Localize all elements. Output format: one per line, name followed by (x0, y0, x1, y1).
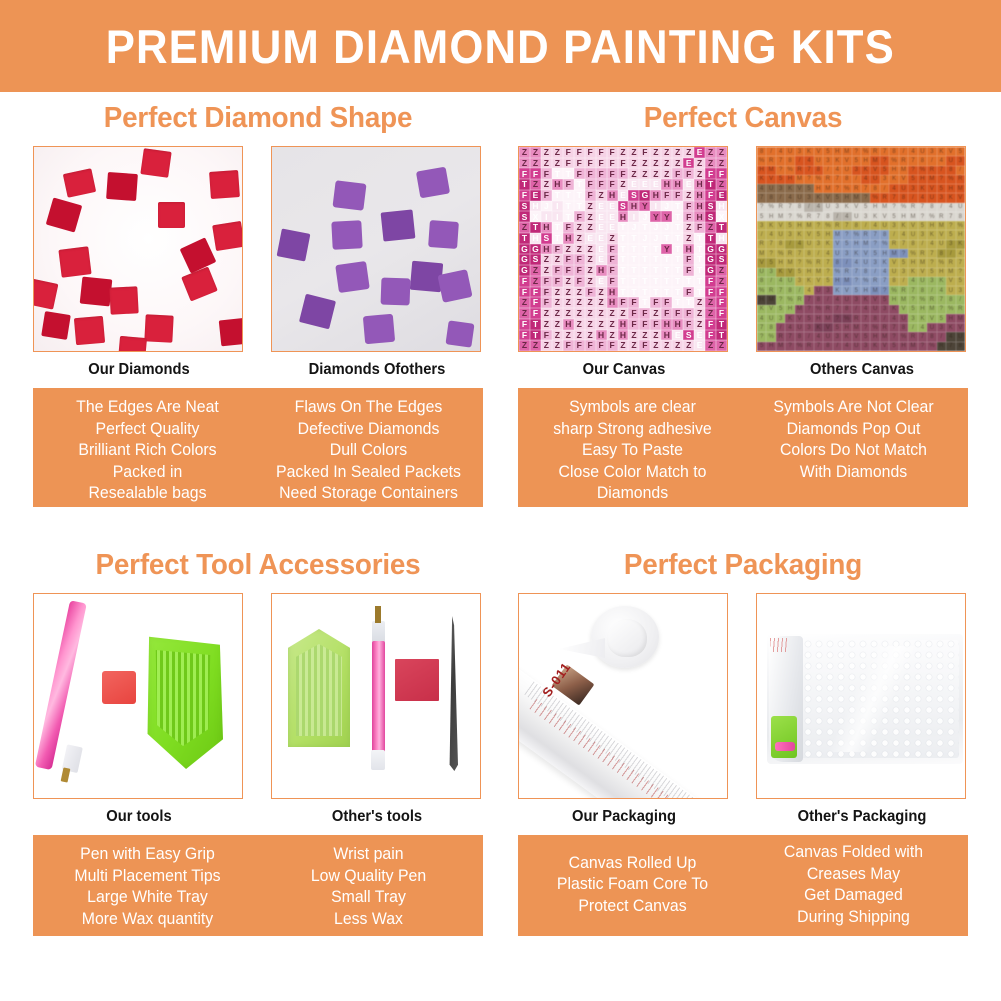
diamond-drill (158, 202, 185, 228)
canvas-symbol-cell: Z (541, 147, 552, 158)
canvas-symbol-cell: ? (956, 268, 965, 277)
tweezers (444, 616, 458, 771)
canvas-symbol-cell: T (563, 190, 574, 201)
canvas-symbol-cell: U (842, 295, 851, 304)
canvas-symbol-cell: F (585, 340, 596, 351)
canvas-symbol-cell: Z (618, 179, 629, 190)
canvas-symbol-cell: 8 (795, 203, 804, 212)
canvas-symbol-cell: Z (519, 308, 530, 319)
canvas-symbol-cell: 3 (776, 184, 785, 193)
canvas-symbol-cell: ? (823, 268, 832, 277)
canvas-symbol-cell: F (519, 319, 530, 330)
canvas-symbol-cell: H (880, 249, 889, 258)
canvas-symbol-cell: Z (683, 340, 694, 351)
canvas-symbol-cell: R (956, 305, 965, 314)
canvas-symbol-cell: V (918, 268, 927, 277)
canvas-symbol-cell: Z (585, 211, 596, 222)
canvas-symbol-cell: 7 (785, 203, 794, 212)
canvas-symbol-cell: 8 (766, 193, 775, 202)
canvas-symbol-cell: X (716, 211, 727, 222)
our-diamonds-photo (33, 146, 243, 352)
canvas-symbol-cell: ? (766, 249, 775, 258)
canvas-symbol-cell: T (650, 244, 661, 255)
canvas-symbol-cell: T (650, 254, 661, 265)
canvas-symbol-cell: F (541, 168, 552, 179)
canvas-symbol-cell: U (861, 258, 870, 267)
canvas-symbol-cell: 7 (870, 230, 879, 239)
canvas-symbol-cell: S (716, 254, 727, 265)
canvas-symbol-cell: 5 (823, 147, 832, 156)
canvas-symbol-cell: H (672, 179, 683, 190)
canvas-symbol-cell: H (661, 319, 672, 330)
canvas-symbol-cell: V (795, 184, 804, 193)
canvas-symbol-cell: T (618, 276, 629, 287)
our-packaging-block: S-011 Our Packaging (518, 593, 730, 826)
canvas-symbol-cell: T (672, 265, 683, 276)
canvas-symbol-cell: F (607, 276, 618, 287)
canvas-symbol-cell: R (937, 342, 946, 351)
our-tools-benefits: Pen with Easy Grip Multi Placement Tips … (41, 844, 253, 926)
canvas-symbol-cell: Y (639, 201, 650, 212)
canvas-symbol-cell: H (607, 190, 618, 201)
canvas-symbol-cell: / (956, 166, 965, 175)
canvas-symbol-cell: E (618, 190, 629, 201)
our-canvas-benefits: Symbols are clear sharp Strong adhesive … (526, 397, 738, 497)
canvas-symbol-cell: T (618, 287, 629, 298)
canvas-symbol-cell: / (833, 342, 842, 351)
canvas-symbol-cell: R (889, 240, 898, 249)
canvas-symbol-cell: Z (628, 330, 639, 341)
canvas-symbol-cell: H (918, 175, 927, 184)
canvas-symbol-cell: F (683, 319, 694, 330)
canvas-symbol-cell: 4 (804, 286, 813, 295)
canvas-symbol-cell: H (650, 190, 661, 201)
others-tools-photo (271, 593, 481, 799)
canvas-symbol-cell: / (776, 193, 785, 202)
others-diamonds-photo (271, 146, 481, 352)
canvas-symbol-cell: Z (585, 201, 596, 212)
canvas-symbol-cell: 7 (852, 268, 861, 277)
canvas-symbol-cell: Z (563, 308, 574, 319)
canvas-symbol-cell: T (618, 254, 629, 265)
canvas-symbol-cell: / (946, 249, 955, 258)
canvas-symbol-cell: E (585, 233, 596, 244)
canvas-symbol-cell: H (842, 193, 851, 202)
benefit-line: Pen with Easy Grip (41, 844, 253, 866)
canvas-symbol-cell: U (870, 305, 879, 314)
benefit-line: Protect Canvas (526, 896, 738, 918)
canvas-symbol-cell: I (650, 201, 661, 212)
infographic-page: PREMIUM DIAMOND PAINTING KITS Perfect Di… (0, 0, 1001, 1001)
canvas-symbol-cell: ? (804, 305, 813, 314)
canvas-symbol-cell: F (574, 158, 585, 169)
canvas-symbol-cell: 4 (852, 258, 861, 267)
canvas-symbol-cell: M (842, 147, 851, 156)
canvas-symbol-cell: H (607, 287, 618, 298)
canvas-symbol-cell: F (716, 297, 727, 308)
canvas-symbol-cell: F (705, 276, 716, 287)
canvas-symbol-cell: / (795, 286, 804, 295)
canvas-symbol-cell: T (672, 297, 683, 308)
canvas-symbol-cell: 4 (785, 193, 794, 202)
canvas-symbol-cell: T (672, 201, 683, 212)
others-packaging-block: Other's Packaging (756, 593, 968, 826)
canvas-symbol-cell: 8 (927, 332, 936, 341)
canvas-symbol-cell: M (956, 184, 965, 193)
canvas-symbol-cell: Z (661, 340, 672, 351)
canvas-symbol-cell: Z (716, 265, 727, 276)
tray-grooves (296, 644, 342, 736)
canvas-symbol-cell: F (563, 158, 574, 169)
benefit-line: Diamonds (526, 483, 738, 505)
canvas-symbol-grid: ZZZZFFFFFZZFZZZZEZZZZZZFFFFFFZZZZZEZZZFF… (519, 147, 727, 351)
canvas-symbol-cell: % (946, 305, 955, 314)
page-title: PREMIUM DIAMOND PAINTING KITS (106, 19, 895, 74)
canvas-symbol-cell: 4 (946, 203, 955, 212)
canvas-symbol-cell: % (785, 166, 794, 175)
canvas-symbol-cell: 7 (785, 332, 794, 341)
photo-caption: Our Canvas (523, 361, 724, 379)
drawback-line: Get Damaged (747, 885, 959, 907)
canvas-symbol-cell: K (946, 323, 955, 332)
canvas-symbol-cell: % (937, 258, 946, 267)
canvas-symbol-cell: 3 (927, 277, 936, 286)
canvas-symbol-cell: F (683, 201, 694, 212)
canvas-symbol-cell: E (716, 190, 727, 201)
canvas-symbol-cell: F (628, 308, 639, 319)
canvas-symbol-cell: Z (683, 233, 694, 244)
tools-comparison-box: Pen with Easy Grip Multi Placement Tips … (33, 835, 483, 936)
canvas-symbol-cell: ? (833, 184, 842, 193)
benefit-line: More Wax quantity (41, 909, 253, 931)
canvas-symbol-cell: Z (585, 276, 596, 287)
others-diamonds-drawbacks: Flaws On The Edges Defective Diamonds Du… (262, 397, 474, 497)
canvas-symbol-cell: M (908, 342, 917, 351)
canvas-symbol-cell: F (672, 190, 683, 201)
others-canvas-drawbacks: Symbols Are Not Clear Diamonds Pop Out C… (747, 397, 959, 497)
canvas-symbol-cell: % (795, 342, 804, 351)
bag-highlight (817, 646, 937, 752)
canvas-symbol-cell: T (694, 254, 705, 265)
canvas-symbol-cell: R (918, 249, 927, 258)
canvas-symbol-cell: R (880, 323, 889, 332)
canvas-symbol-cell: E (596, 201, 607, 212)
canvas-symbol-cell: Z (694, 158, 705, 169)
canvas-symbol-cell: 3 (870, 258, 879, 267)
canvas-symbol-cell: H (541, 222, 552, 233)
drawback-line: Creases May (747, 864, 959, 886)
canvas-symbol-cell: R (842, 268, 851, 277)
canvas-symbol-cell: F (519, 276, 530, 287)
canvas-symbol-cell: R (823, 175, 832, 184)
canvas-symbol-cell: S (705, 211, 716, 222)
canvas-symbol-cell: 5 (889, 342, 898, 351)
canvas-symbol-cell: R (823, 305, 832, 314)
canvas-symbol-cell: F (683, 168, 694, 179)
canvas-symbol-cell: 7 (776, 156, 785, 165)
canvas-symbol-cell: ? (861, 193, 870, 202)
canvas-symbol-cell: Z (530, 158, 541, 169)
canvas-symbol-cell: 3 (785, 230, 794, 239)
canvas-symbol-cell: % (908, 249, 917, 258)
canvas-symbol-cell: 7 (804, 166, 813, 175)
canvas-symbol-cell: R (766, 286, 775, 295)
canvas-symbol-cell: F (672, 168, 683, 179)
canvas-symbol-cell: V (842, 286, 851, 295)
canvas-symbol-cell: V (823, 193, 832, 202)
canvas-symbol-cell: K (776, 268, 785, 277)
canvas-symbol-cell: E (639, 179, 650, 190)
canvas-symbol-cell: M (804, 221, 813, 230)
canvas-symbol-cell: T (694, 287, 705, 298)
canvas-symbol-cell: E (596, 211, 607, 222)
canvas-symbol-cell: 3 (823, 156, 832, 165)
canvas-symbol-cell: T (552, 222, 563, 233)
canvas-symbol-cell: T (672, 233, 683, 244)
canvas-symbol-cell: 8 (908, 240, 917, 249)
our-tools-photo (33, 593, 243, 799)
canvas-symbol-cell: R (908, 332, 917, 341)
canvas-symbol-cell: R (880, 193, 889, 202)
canvas-symbol-cell: U (823, 203, 832, 212)
canvas-symbol-cell: T (574, 190, 585, 201)
canvas-symbol-cell: 8 (852, 221, 861, 230)
canvas-symbol-cell: Z (618, 340, 629, 351)
canvas-symbol-cell: U (833, 249, 842, 258)
canvas-symbol-cell: T (694, 265, 705, 276)
photo-caption: Other's Packaging (761, 808, 962, 826)
canvas-symbol-cell: T (716, 222, 727, 233)
canvas-symbol-cell: ? (937, 175, 946, 184)
benefit-line: sharp Strong adhesive (526, 419, 738, 441)
canvas-symbol-cell: F (585, 168, 596, 179)
packaging-comparison-box: Canvas Rolled Up Plastic Foam Core To Pr… (518, 835, 968, 936)
canvas-symbol-cell: 7 (833, 305, 842, 314)
canvas-symbol-cell: 8 (880, 230, 889, 239)
canvas-symbol-cell: / (785, 240, 794, 249)
canvas-symbol-cell: K (823, 240, 832, 249)
canvas-symbol-cell: G (530, 244, 541, 255)
canvas-symbol-cell: Z (541, 179, 552, 190)
canvas-symbol-cell: T (661, 233, 672, 244)
canvas-symbol-cell: Z (541, 319, 552, 330)
canvas-symbol-cell: U (899, 184, 908, 193)
canvas-symbol-cell: V (852, 332, 861, 341)
canvas-symbol-cell: T (716, 330, 727, 341)
canvas-symbol-cell: 8 (956, 212, 965, 221)
canvas-symbol-cell: 8 (804, 249, 813, 258)
canvas-symbol-cell: R (776, 203, 785, 212)
diamond-drill (445, 320, 474, 347)
canvas-symbol-cell: 4 (889, 314, 898, 323)
canvas-symbol-cell: Z (705, 308, 716, 319)
canvas-symbol-cell: 4 (889, 184, 898, 193)
canvas-symbol-cell: K (956, 240, 965, 249)
canvas-symbol-cell: H (766, 342, 775, 351)
canvas-symbol-cell: 7 (889, 193, 898, 202)
canvas-symbol-cell: R (852, 184, 861, 193)
canvas-symbol-cell: 4 (861, 175, 870, 184)
canvas-symbol-cell: Z (552, 158, 563, 169)
canvas-symbol-cell: 7 (956, 258, 965, 267)
pen-body (372, 641, 385, 753)
canvas-symbol-cell: F (683, 211, 694, 222)
canvas-symbol-cell: F (705, 330, 716, 341)
canvas-symbol-cell: 4 (946, 332, 955, 341)
diamond-drill (363, 314, 395, 345)
canvas-symbol-cell: H (530, 233, 541, 244)
canvas-symbol-cell: / (927, 156, 936, 165)
canvas-symbol-cell: 7 (814, 342, 823, 351)
canvas-symbol-cell: T (639, 297, 650, 308)
canvas-symbol-cell: 7 (880, 277, 889, 286)
others-tools-drawbacks: Wrist pain Low Quality Pen Small Tray Le… (262, 844, 474, 926)
canvas-symbol-cell: U (927, 193, 936, 202)
canvas-symbol-cell: K (937, 147, 946, 156)
canvas-symbol-cell: % (757, 156, 766, 165)
canvas-symbol-cell: F (530, 168, 541, 179)
our-canvas-block: ZZZZFFFFFZZFZZZZEZZZZZZFFFFFFZZZZZEZZZFF… (518, 146, 730, 379)
diamond-drill (118, 336, 147, 352)
canvas-symbol-cell: 4 (908, 147, 917, 156)
canvas-symbol-cell: M (842, 277, 851, 286)
canvas-symbol-cell: ? (870, 240, 879, 249)
canvas-symbol-cell: G (705, 254, 716, 265)
canvas-symbol-cell: 8 (833, 258, 842, 267)
canvas-symbol-cell: 4 (842, 212, 851, 221)
canvas-symbol-cell: Z (585, 308, 596, 319)
canvas-symbol-cell: E (672, 330, 683, 341)
canvas-symbol-cell: Z (530, 147, 541, 158)
canvas-symbol-cell: F (574, 147, 585, 158)
canvas-symbol-cell: 7 (946, 212, 955, 221)
canvas-symbol-cell: H (899, 342, 908, 351)
canvas-symbol-cell: ? (918, 212, 927, 221)
canvas-symbol-cell: 7 (833, 175, 842, 184)
photo-caption: Diamonds Ofothers (276, 361, 477, 379)
canvas-symbol-cell: U (956, 203, 965, 212)
canvas-symbol-cell: U (823, 332, 832, 341)
canvas-symbol-cell: T (618, 244, 629, 255)
canvas-symbol-cell: 8 (776, 240, 785, 249)
canvas-symbol-cell: 3 (889, 221, 898, 230)
canvas-symbol-cell: S (628, 190, 639, 201)
canvas-symbol-cell: % (823, 221, 832, 230)
canvas-symbol-cell: 4 (804, 156, 813, 165)
canvas-symbol-cell: 4 (776, 277, 785, 286)
canvas-symbol-cell: R (804, 342, 813, 351)
canvas-symbol-cell: 7 (889, 323, 898, 332)
canvas-symbol-cell: T (519, 179, 530, 190)
canvas-symbol-cell: / (899, 147, 908, 156)
benefit-line: Easy To Paste (526, 440, 738, 462)
canvas-symbol-cell: % (766, 203, 775, 212)
canvas-symbol-cell: R (908, 203, 917, 212)
canvas-symbol-cell: M (899, 166, 908, 175)
canvas-symbol-cell: R (899, 286, 908, 295)
drawback-line: Colors Do Not Match (747, 440, 959, 462)
canvas-symbol-cell: 8 (889, 147, 898, 156)
canvas-symbol-cell: Z (519, 340, 530, 351)
section-packaging: Perfect Packaging S-011 Our Packaging (518, 549, 968, 936)
canvas-symbol-cell: H (889, 166, 898, 175)
wax-square (395, 659, 439, 701)
canvas-symbol-cell: U (927, 323, 936, 332)
drawback-line: Need Storage Containers (262, 483, 474, 505)
canvas-symbol-cell: T (694, 244, 705, 255)
canvas-symbol-cell: Z (552, 340, 563, 351)
canvas-symbol-cell: ? (814, 221, 823, 230)
canvas-symbol-cell: ? (946, 221, 955, 230)
canvas-symbol-cell: T (628, 233, 639, 244)
canvas-symbol-cell: K (766, 221, 775, 230)
canvas-symbol-cell: ? (852, 147, 861, 156)
canvas-symbol-cell: H (757, 295, 766, 304)
canvas-symbol-cell: Z (530, 340, 541, 351)
canvas-symbol-cell: / (766, 277, 775, 286)
canvas-symbol-cell: G (705, 244, 716, 255)
canvas-symbol-cell: F (639, 319, 650, 330)
benefit-line: Brilliant Rich Colors (41, 440, 253, 462)
canvas-symbol-cell: 3 (908, 314, 917, 323)
drawback-line: Symbols Are Not Clear (747, 397, 959, 419)
canvas-symbol-cell: H (628, 201, 639, 212)
canvas-symbol-cell: K (833, 156, 842, 165)
canvas-symbol-cell: F (683, 254, 694, 265)
diamond-drill (428, 220, 459, 249)
canvas-symbol-cell: ? (889, 332, 898, 341)
canvas-symbol-cell: Z (607, 319, 618, 330)
canvas-symbol-cell: 7 (899, 240, 908, 249)
diamond-drill (41, 311, 71, 340)
canvas-symbol-cell: 5 (814, 230, 823, 239)
canvas-symbol-cell: U (814, 156, 823, 165)
canvas-symbol-cell: / (823, 295, 832, 304)
canvas-symbol-cell: T (563, 168, 574, 179)
canvas-symbol-cell: 8 (889, 277, 898, 286)
section-tool-accessories: Perfect Tool Accessories Our tools (33, 549, 483, 936)
canvas-symbol-cell: 5 (899, 258, 908, 267)
canvas-symbol-cell: F (705, 168, 716, 179)
canvas-symbol-cell: F (574, 340, 585, 351)
canvas-symbol-cell: I (541, 211, 552, 222)
canvas-symbol-cell: F (530, 308, 541, 319)
canvas-symbol-cell: 3 (852, 166, 861, 175)
canvas-symbol-cell: T (661, 276, 672, 287)
canvas-symbol-cell: 4 (776, 147, 785, 156)
others-diamonds-block: Diamonds Ofothers (271, 146, 483, 379)
canvas-symbol-cell: Z (650, 158, 661, 169)
section-title-diamond-shape: Perfect Diamond Shape (42, 102, 474, 135)
canvas-symbol-cell: T (672, 254, 683, 265)
canvas-symbol-cell: K (946, 193, 955, 202)
canvas-symbol-cell: Z (596, 297, 607, 308)
canvas-symbol-cell: U (946, 286, 955, 295)
canvas-symbol-cell: 5 (880, 295, 889, 304)
canvas-symbol-cell: I (552, 201, 563, 212)
canvas-symbol-cell: U (908, 230, 917, 239)
canvas-symbol-cell: U (956, 332, 965, 341)
canvas-symbol-cell: / (804, 332, 813, 341)
canvas-symbol-cell: Z (552, 297, 563, 308)
canvas-symbol-cell: 8 (861, 268, 870, 277)
canvas-symbol-cell: F (574, 265, 585, 276)
canvas-symbol-cell: M (776, 342, 785, 351)
canvas-symbol-cell: Z (563, 330, 574, 341)
canvas-symbol-cell: V (766, 305, 775, 314)
canvas-symbol-cell: 4 (861, 305, 870, 314)
canvas-symbol-cell: 8 (785, 286, 794, 295)
